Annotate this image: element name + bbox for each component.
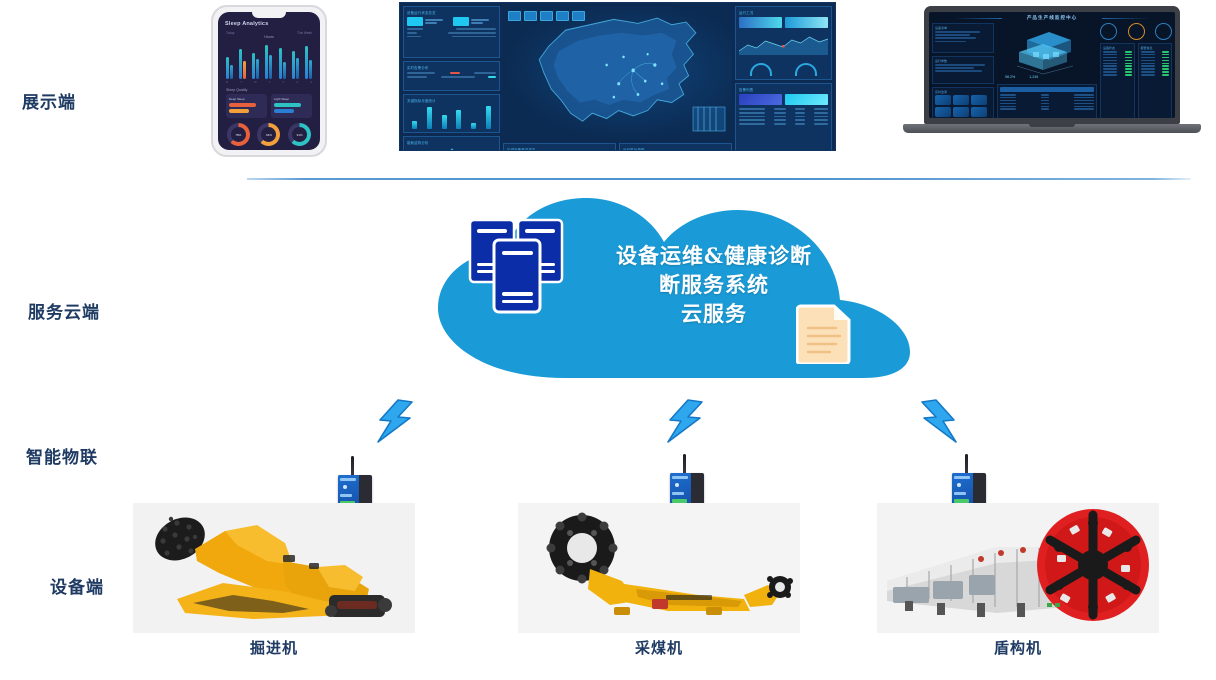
dashboard-bar — [471, 123, 476, 129]
laptop-alarm-list — [1141, 51, 1170, 76]
gateway-front-panel — [952, 473, 973, 506]
phone-bar-group — [279, 48, 286, 79]
signal-bolt-icon — [662, 398, 708, 446]
laptop-panel-monitor: 实时监测 — [932, 87, 994, 118]
laptop-list-row — [1103, 71, 1132, 73]
panel-title-pyramid: 能耗结构分析 — [407, 140, 496, 145]
laptop-list-row — [1103, 60, 1132, 62]
device-image-tbm — [877, 503, 1159, 633]
iot-gateway-1 — [338, 456, 372, 508]
phone-bar-group — [265, 45, 272, 79]
tbm-illustration — [877, 503, 1159, 633]
phone-axis-tick: T — [240, 81, 242, 84]
laptop-mockup: 产品生产线监控中心 设备清单 运行参数 — [893, 2, 1211, 152]
panel-title-table: 告警列表 — [739, 87, 828, 92]
signal-bolt-icon — [372, 398, 418, 446]
laptop-table-row — [1000, 103, 1094, 105]
laptop-gauge — [971, 95, 987, 105]
dashboard-table-row — [739, 108, 828, 110]
phone-gauge-value: 78% — [227, 123, 250, 146]
laptop-header: 产品生产线监控中心 — [932, 15, 1172, 21]
phone-left-label: Today — [226, 31, 235, 35]
dashboard-bar — [427, 107, 432, 129]
laptop-list-row — [1103, 57, 1132, 59]
device-image-shearer — [518, 503, 800, 633]
laptop-metric-1: 1,245 — [1029, 75, 1038, 79]
map-filter-tag[interactable] — [524, 11, 537, 21]
phone-gauge-row: 78%64%91% — [223, 123, 315, 146]
laptop-gauge — [971, 107, 987, 117]
laptop-panel-inventory: 设备清单 — [932, 23, 994, 53]
laptop-table-header — [1000, 87, 1094, 92]
device-label-tbm: 盾构机 — [877, 637, 1159, 658]
laptop-list-row — [1103, 54, 1132, 56]
phone-section-label: Sleep Quality — [226, 88, 315, 92]
dashboard-table-row — [739, 123, 828, 125]
device-image-roadheader — [133, 503, 415, 633]
dashboard-panel-pyramid: 能耗结构分析 — [403, 136, 500, 151]
factory-3d-shape — [997, 26, 1097, 78]
wall-dashboard: 设备运行状态总览 实时告警分布 — [399, 2, 836, 151]
laptop-list-row — [1103, 74, 1132, 76]
phone-card-title: Deep Sleep — [229, 97, 264, 101]
phone-center-label: Hours — [223, 35, 315, 39]
map-legend-panel — [692, 106, 726, 132]
map-filter-tag[interactable] — [540, 11, 553, 21]
dashboard-panel-table: 告警列表 — [735, 83, 832, 151]
dashboard-panel-status: 运行工况 — [735, 6, 832, 80]
laptop-base-notch — [1029, 124, 1075, 127]
gateway-antenna — [683, 454, 686, 475]
dashboard-panel-alarm: 实时告警分布 — [403, 61, 500, 91]
map-filter-tag[interactable] — [508, 11, 521, 21]
laptop-list-row — [1103, 51, 1132, 53]
laptop-lid: 产品生产线监控中心 设备清单 运行参数 — [924, 6, 1180, 124]
dashboard-bar — [486, 106, 491, 129]
phone-bar-chart — [226, 41, 312, 79]
iot-gateway-3 — [952, 454, 986, 506]
status-toggle-row[interactable] — [739, 17, 828, 28]
phone-gauge: 91% — [288, 123, 311, 146]
map-filter-tags[interactable] — [508, 11, 585, 21]
tier-label-display: 展示端 — [22, 88, 76, 113]
phone-bar-group — [292, 51, 299, 79]
phone-notch — [252, 12, 286, 18]
device-label-shearer: 采煤机 — [518, 637, 800, 658]
tier-divider — [247, 178, 1191, 180]
phone-chart-axis: MTWTFSS — [223, 79, 315, 84]
laptop-list-row — [1103, 65, 1132, 67]
phone-metric-cards: Deep SleepLight Sleep — [223, 94, 315, 118]
tier-label-iot: 智能物联 — [26, 443, 98, 468]
laptop-gauge-grid — [935, 95, 991, 117]
laptop-gauge — [935, 95, 951, 105]
laptop-panel-title-2: 实时监测 — [935, 90, 991, 94]
laptop-rpanel-title-0: 设备状态 — [1103, 46, 1132, 50]
panel-title-overview: 设备运行状态总览 — [407, 10, 496, 15]
phone-metric-card[interactable]: Deep Sleep — [226, 94, 267, 118]
laptop-panel-devstatus: 设备状态 — [1100, 43, 1135, 118]
laptop-panel-params: 运行参数 — [932, 56, 994, 84]
gateway-antenna — [965, 454, 968, 475]
dashboard-bar — [456, 110, 461, 129]
laptop-table-rows — [1000, 94, 1094, 110]
dashboard-table-row — [739, 119, 828, 121]
dashboard-bar — [442, 115, 447, 129]
laptop-list-row — [1141, 51, 1170, 53]
laptop-list-row — [1103, 68, 1132, 70]
laptop-list-row — [1141, 68, 1170, 70]
laptop-table-row — [1000, 106, 1094, 108]
gateway-front-panel — [670, 473, 691, 506]
gateway-antenna — [351, 456, 354, 477]
shearer-illustration — [518, 503, 800, 633]
dashboard-table-row — [739, 116, 828, 118]
architecture-diagram: 展示端 服务云端 智能物联 设备端 Sleep Analytics Today … — [0, 0, 1216, 680]
laptop-3d-model: 98.2% 1,245 — [997, 23, 1097, 81]
signal-bolt-icon — [916, 398, 962, 446]
phone-axis-tick: S — [310, 81, 312, 84]
laptop-gauge — [935, 107, 951, 117]
phone-axis-tick: F — [283, 81, 285, 84]
laptop-table-row — [1000, 97, 1094, 99]
phone-metric-card[interactable]: Light Sleep — [271, 94, 312, 118]
panel-title-stats: 关键指标月度统计 — [407, 98, 496, 103]
dashboard-panel-rank: 区域设备数量排名 — [503, 143, 616, 151]
phone-card-title: Light Sleep — [274, 97, 309, 101]
phone-bar-group — [226, 57, 233, 79]
laptop-status-list — [1103, 51, 1132, 76]
laptop-list-row — [1141, 54, 1170, 56]
tier-label-cloud: 服务云端 — [28, 298, 100, 323]
cloud-text-line: 断服务系统 — [574, 271, 854, 300]
roadheader-illustration — [133, 503, 415, 633]
phone-bar-group — [239, 49, 246, 79]
phone-mockup: Sleep Analytics Today This Week Hours MT… — [211, 5, 327, 157]
phone-screen: Sleep Analytics Today This Week Hours MT… — [218, 12, 320, 150]
dashboard-panel-overview: 设备运行状态总览 — [403, 6, 500, 58]
laptop-list-row — [1141, 74, 1170, 76]
dashboard-panel-trend: 运行时长趋势 — [619, 143, 732, 151]
laptop-panel-title-1: 运行参数 — [935, 59, 991, 63]
dashboard-china-map — [503, 6, 732, 140]
phone-gauge: 78% — [227, 123, 250, 146]
status-rings — [739, 63, 828, 76]
laptop-panel-title-0: 设备清单 — [935, 26, 991, 30]
laptop-list-row — [1103, 63, 1132, 65]
device-label-roadheader: 掘进机 — [133, 637, 415, 658]
cloud-text-line: 设备运维&健康诊断 — [574, 242, 854, 271]
gateway-body — [952, 473, 986, 506]
phone-axis-tick: W — [254, 81, 256, 84]
phone-bar-group — [252, 53, 259, 79]
dashboard-table — [739, 108, 828, 125]
laptop-gauge — [953, 95, 969, 105]
laptop-list-row — [1141, 63, 1170, 65]
laptop-dashboard-title: 产品生产线监控中心 — [1027, 15, 1077, 21]
laptop-gauge — [953, 107, 969, 117]
dashboard-bar-chart — [407, 105, 496, 129]
phone-right-label: This Week — [297, 31, 312, 35]
phone-gauge-value: 64% — [257, 123, 280, 146]
laptop-panel-alarms: 报警信息 — [1138, 43, 1173, 118]
gateway-body — [670, 473, 704, 506]
phone-axis-tick: S — [296, 81, 298, 84]
laptop-table-row — [1000, 100, 1094, 102]
laptop-center-table — [997, 84, 1097, 118]
tier-label-device: 设备端 — [50, 573, 104, 598]
panel-title-trend: 运行时长趋势 — [623, 147, 728, 151]
laptop-metric-0: 98.2% — [1005, 75, 1015, 79]
dashboard-table-row — [739, 112, 828, 114]
laptop-ring-row — [1100, 23, 1172, 40]
laptop-list-row — [1141, 57, 1170, 59]
phone-dashboard-title: Sleep Analytics — [225, 21, 315, 27]
laptop-table-row — [1000, 94, 1094, 96]
laptop-list-row — [1141, 71, 1170, 73]
phone-gauge: 64% — [257, 123, 280, 146]
panel-title-alarm: 实时告警分布 — [407, 65, 496, 70]
map-filter-tag[interactable] — [572, 11, 585, 21]
laptop-list-row — [1141, 65, 1170, 67]
dashboard-kpi-row — [407, 17, 496, 26]
panel-title-rank: 区域设备数量排名 — [507, 147, 612, 151]
panel-title-status: 运行工况 — [739, 10, 828, 15]
status-mini-chart — [739, 31, 828, 55]
dashboard-panel-stats: 关键指标月度统计 — [403, 94, 500, 133]
phone-axis-tick: M — [226, 81, 228, 84]
iot-gateway-2 — [670, 454, 704, 506]
cloud-service-group: 设备运维&健康诊断断服务系统云服务 — [424, 192, 936, 390]
laptop-table-row — [1000, 108, 1094, 110]
document-icon — [796, 302, 854, 364]
phone-axis-tick: T — [269, 81, 271, 84]
dashboard-bar — [412, 121, 417, 129]
phone-gauge-value: 91% — [288, 123, 311, 146]
phone-bar-group — [305, 46, 312, 79]
laptop-rpanel-title-1: 报警信息 — [1141, 46, 1170, 50]
map-filter-tag[interactable] — [556, 11, 569, 21]
laptop-screen: 产品生产线监控中心 设备清单 运行参数 — [929, 12, 1175, 118]
pyramid-chart — [407, 147, 498, 151]
laptop-list-row — [1141, 60, 1170, 62]
